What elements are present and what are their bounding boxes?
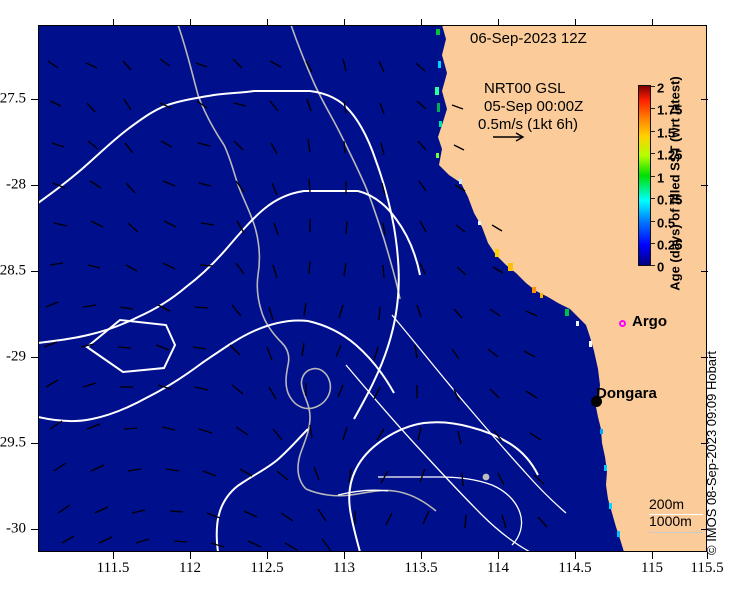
colorbar-label-0: 2 [657,81,664,96]
xtick-top-0 [113,19,114,26]
xtick-top-6 [575,19,576,26]
colorbar-label-8: 0 [657,260,664,275]
xtick-label-7: 115 [641,560,663,577]
figure-root: Argo Dongara 06-Sep-2023 12Z NRT00 GSL 0… [0,0,740,592]
ytick-5 [31,529,38,530]
ytick-right-2 [701,271,708,272]
ytick-0 [31,99,38,100]
colorbar-tick-3 [651,153,655,154]
xtick-label-1: 112 [179,560,201,577]
ytick-1 [31,185,38,186]
product-name: NRT00 GSL [484,80,565,97]
xtick-top-4 [421,19,422,26]
map-graphics [38,25,707,552]
colorbar-tick-5 [651,198,655,199]
xtick-top-3 [344,19,345,26]
ytick-label-3: -29 [0,349,26,366]
bathymetry-legend: 200m 1000m [649,496,692,530]
xtick-label-0: 111.5 [97,560,130,577]
ytick-right-0 [701,99,708,100]
colorbar-gradient [638,85,651,266]
argo-label: Argo [632,313,667,330]
xtick-label-6: 114.5 [558,560,591,577]
ytick-right-1 [701,185,708,186]
xtick-4 [421,552,422,559]
ytick-label-4: -29.5 [0,435,26,452]
dongara-label: Dongara [596,385,657,402]
xtick-label-8: 115.5 [690,560,723,577]
ytick-label-1: -28 [0,177,26,194]
xtick-top-7 [652,19,653,26]
bathy-label-1000m: 1000m [649,513,692,530]
ytick-label-2: -28.5 [0,263,26,280]
ytick-3 [31,357,38,358]
xtick-label-3: 113 [333,560,355,577]
xtick-top-5 [498,19,499,26]
colorbar-tick-6 [651,221,655,222]
bathy-swatch-200m [649,514,703,515]
xtick-7 [652,552,653,559]
colorbar-label-4: 1 [657,171,664,186]
bathy-label-200m: 200m [649,496,692,513]
colorbar-tick-0 [651,86,655,87]
product-time: 05-Sep 00:00Z [484,98,583,115]
reference-vector-arrow [492,130,532,144]
colorbar-tick-4 [651,176,655,177]
map-plot-area[interactable]: Argo Dongara [38,25,707,552]
ytick-4 [31,443,38,444]
ytick-label-0: -27.5 [0,91,26,108]
xtick-0 [113,552,114,559]
ytick-2 [31,271,38,272]
colorbar-tick-2 [651,131,655,132]
xtick-top-1 [190,19,191,26]
xtick-3 [344,552,345,559]
colorbar-tick-7 [651,243,655,244]
colorbar-tick-1 [651,108,655,109]
colorbar-tick-8 [651,265,655,266]
xtick-6 [575,552,576,559]
argo-marker[interactable] [619,320,626,327]
xtick-top-2 [267,19,268,26]
xtick-1 [190,552,191,559]
ytick-label-5: -30 [0,521,26,538]
xtick-2 [267,552,268,559]
xtick-label-2: 112.5 [250,560,283,577]
credit-text: © IMOS 08-Sep-2023 09:09 Hobart [704,351,719,555]
xtick-5 [498,552,499,559]
xtick-label-5: 114 [487,560,509,577]
timestamp-title: 06-Sep-2023 12Z [470,30,587,47]
xtick-label-4: 113.5 [404,560,437,577]
shelf-node [483,474,490,481]
colorbar-title: Age (days) of filled SST (wrt latest) [668,76,683,291]
bathy-swatch-1000m [649,532,703,533]
